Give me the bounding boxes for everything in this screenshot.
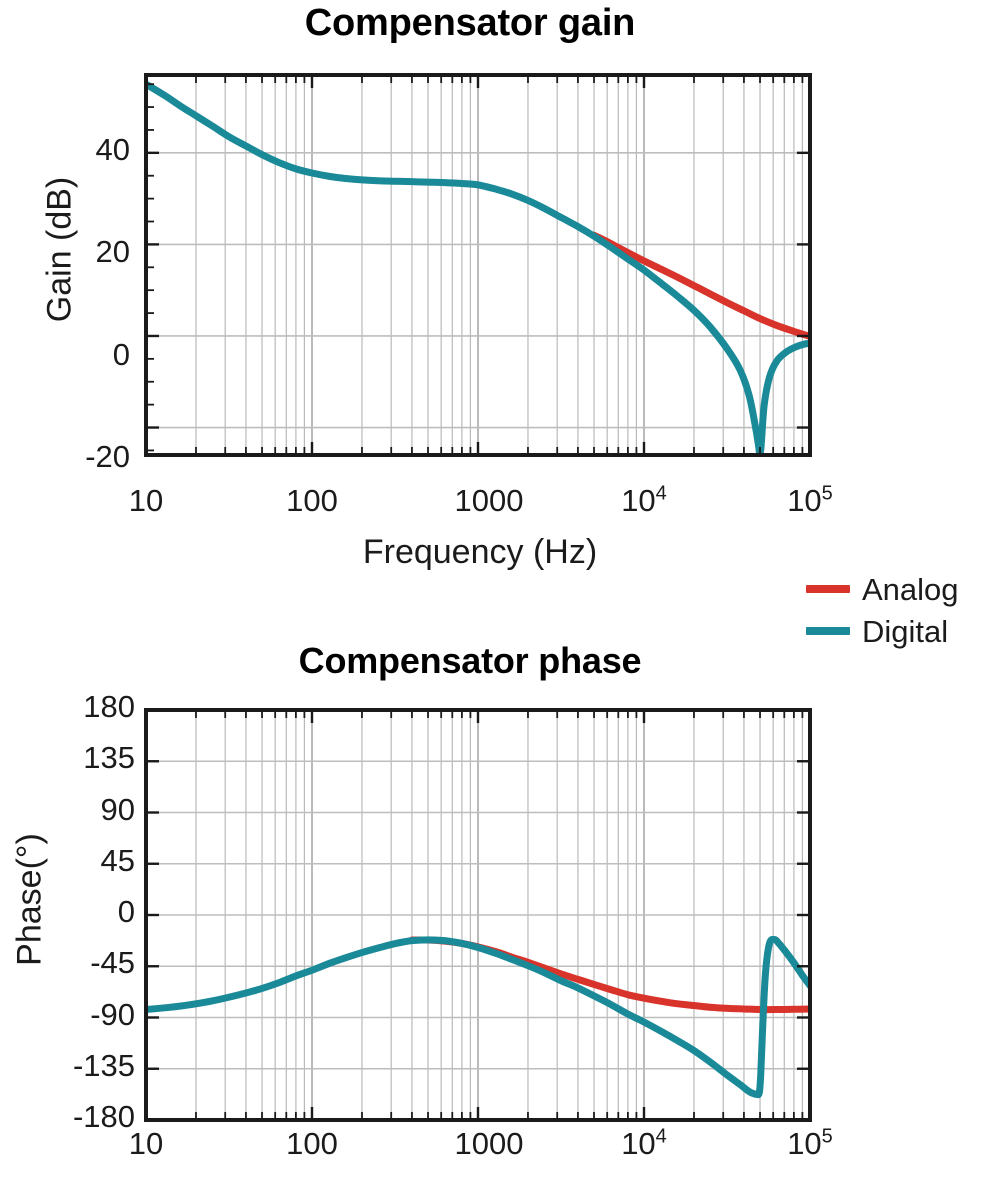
legend-item-digital[interactable]: Digital [806, 610, 959, 652]
legend-swatch-analog [806, 585, 850, 593]
phase-plot-area [0, 700, 1000, 1180]
legend-swatch-digital [806, 627, 850, 635]
phase-chart-title: Compensator phase [190, 640, 750, 682]
legend-label-digital: Digital [862, 616, 948, 647]
legend-label-analog: Analog [862, 574, 959, 605]
gain-x-axis-label: Frequency (Hz) [180, 533, 780, 572]
legend: Analog Digital [806, 568, 959, 652]
phase-series-analog [412, 940, 810, 1010]
gain-gridlines [146, 75, 810, 455]
bode-figure: Compensator gain Gain (dB) Frequency (Hz… [0, 0, 1000, 1178]
gain-plot-area [0, 0, 1000, 520]
legend-item-analog[interactable]: Analog [806, 568, 959, 610]
